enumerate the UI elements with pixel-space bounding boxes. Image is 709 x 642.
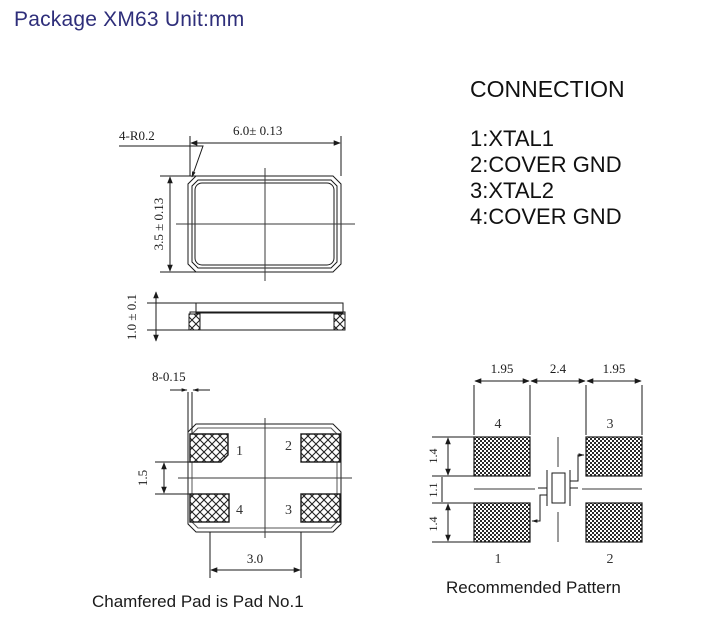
rp-dim-label-mid: 2.4 <box>550 361 567 376</box>
width-dim-label: 6.0± 0.13 <box>233 123 282 138</box>
side-view: 1.0 ± 0.1 <box>124 292 345 341</box>
land-pad-3 <box>586 437 642 476</box>
bottom-view-caption: Chamfered Pad is Pad No.1 <box>92 592 304 612</box>
land-pad-1 <box>474 503 530 542</box>
crystal-leader-to-pad-1 <box>532 495 547 521</box>
corner-radius-label: 4-R0.2 <box>119 128 155 143</box>
rp-vdim-label-top: 1.4 <box>426 449 440 464</box>
bottom-pad-view: 1 2 4 3 8-0.15 1.5 3.0 <box>135 369 352 578</box>
land-label-2: 2 <box>607 552 614 567</box>
thickness-dim-label: 1.0 ± 0.1 <box>124 294 139 340</box>
pad-thickness-label: 8-0.15 <box>152 369 186 384</box>
pad-3 <box>301 494 340 522</box>
recommended-pattern-view: 4 3 1 2 1 <box>426 361 642 567</box>
pad-4 <box>190 494 229 522</box>
pad-label-1: 1 <box>236 444 243 459</box>
top-view: 4-R0.2 6.0± 0.13 3.5 ± 0.13 <box>119 123 355 281</box>
crystal-body <box>552 473 565 503</box>
land-pad-4 <box>474 437 530 476</box>
side-pad-left <box>189 314 200 330</box>
rp-vdim-label-bottom: 1.4 <box>426 517 440 532</box>
pad-label-3: 3 <box>285 503 292 518</box>
pad-label-2: 2 <box>285 439 292 454</box>
pad-label-4: 4 <box>236 503 243 518</box>
drawing-page: Package XM63 Unit:mm CONNECTION 1:XTAL1 … <box>0 0 709 642</box>
technical-drawing: 4-R0.2 6.0± 0.13 3.5 ± 0.13 1. <box>0 0 709 642</box>
side-pad-right <box>334 314 345 330</box>
pad-1 <box>190 434 228 462</box>
land-pad-2 <box>586 503 642 542</box>
rp-vdim-label-mid: 1.1 <box>426 483 440 498</box>
crystal-leader-to-pad-3 <box>570 455 584 481</box>
pitch-h-label: 3.0 <box>247 551 263 566</box>
height-dim-label: 3.5 ± 0.13 <box>151 198 166 251</box>
land-label-1: 1 <box>495 552 502 567</box>
recommended-pattern-caption: Recommended Pattern <box>446 578 621 598</box>
pitch-v-label: 1.5 <box>135 470 150 486</box>
side-body <box>190 312 345 330</box>
land-label-4: 4 <box>495 417 502 432</box>
land-label-3: 3 <box>607 417 614 432</box>
rp-dim-label-left: 1.95 <box>491 361 514 376</box>
pad-2 <box>301 434 340 462</box>
rp-dim-label-right: 1.95 <box>603 361 626 376</box>
